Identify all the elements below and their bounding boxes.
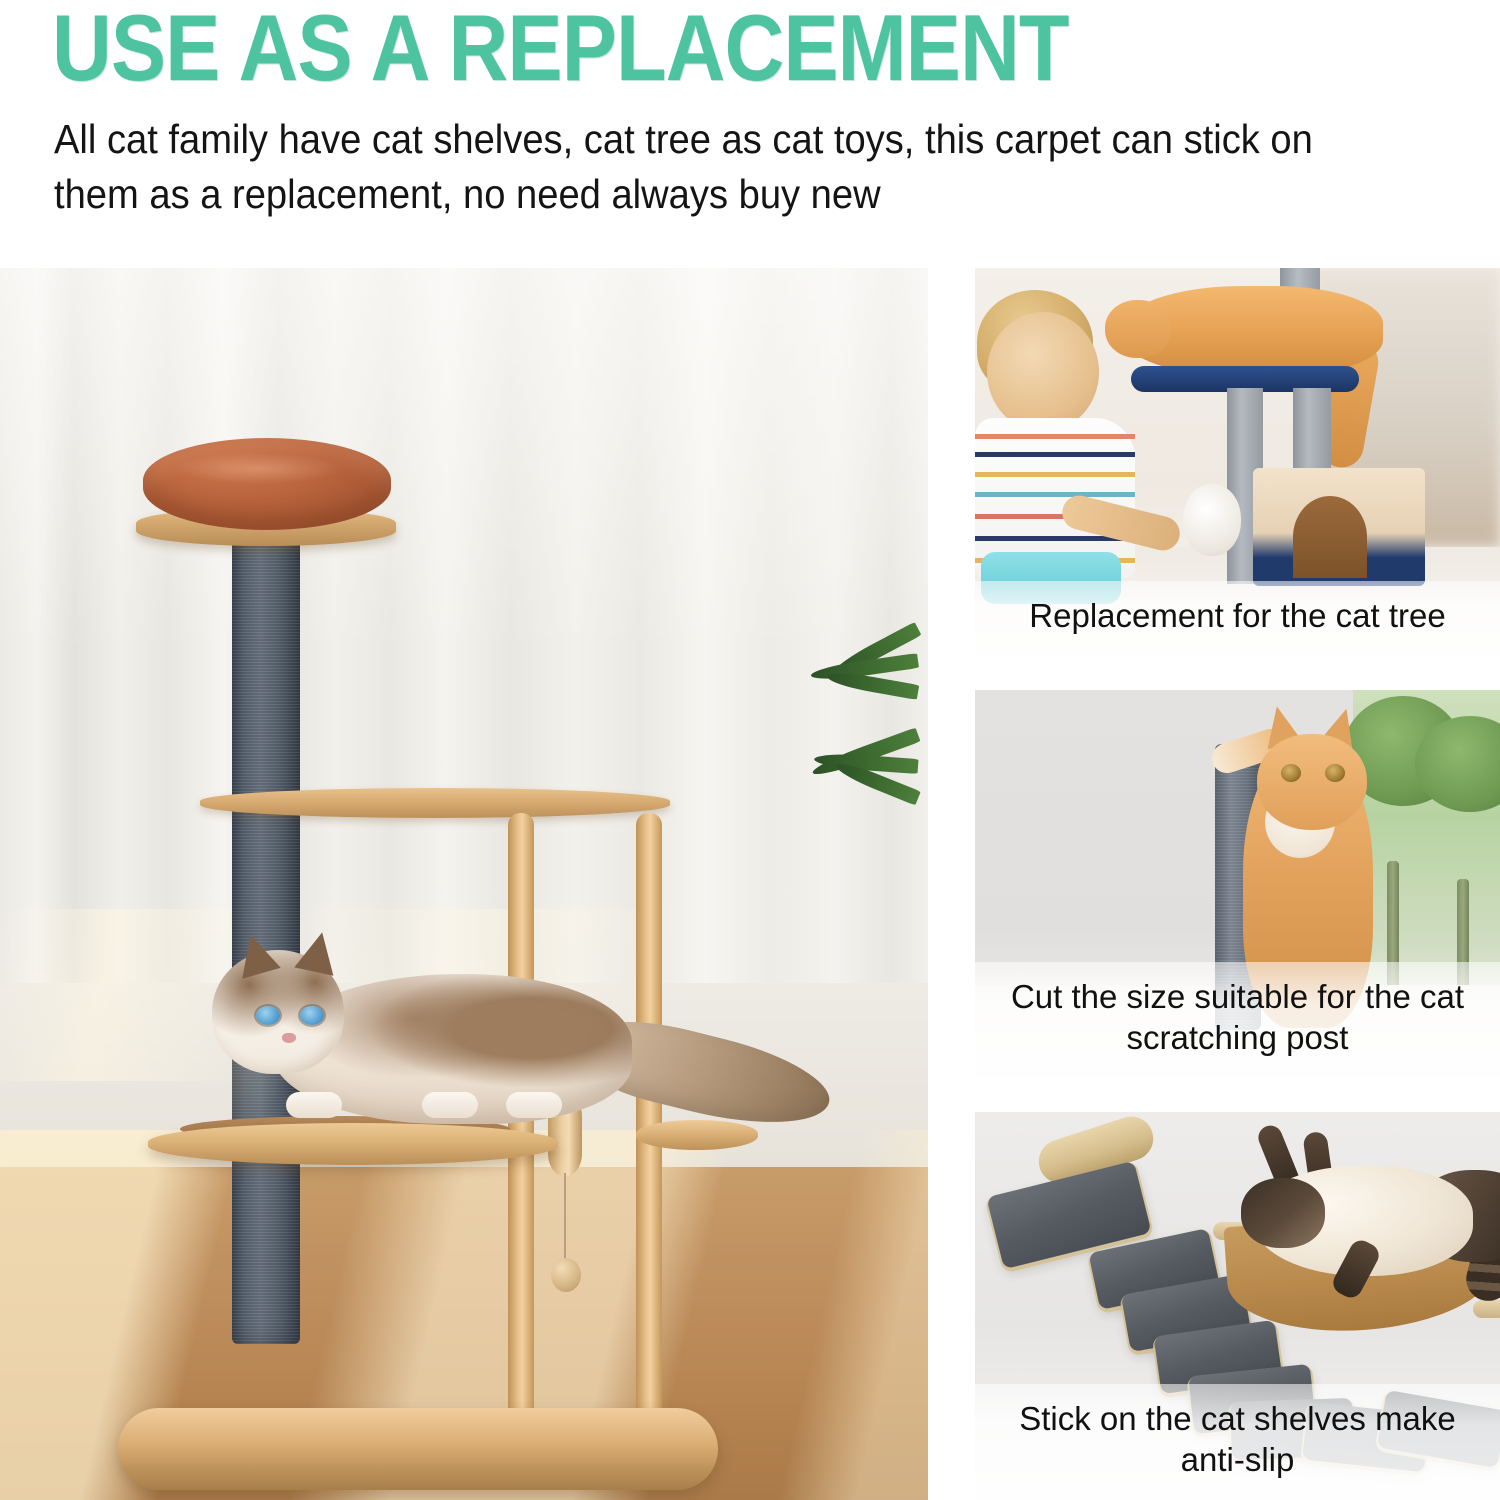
toy-string [564,1173,566,1261]
middle-platform [200,788,670,818]
cat-eye [300,1006,324,1025]
cat-head [212,950,344,1074]
header-band: USE AS A REPLACEMENT All cat family have… [0,0,1500,262]
main-product-photo [0,268,928,1500]
ragdoll-cat [186,940,706,1140]
page-subheading: All cat family have cat shelves, cat tre… [54,112,1356,223]
panel1-child-head [987,312,1099,432]
panel1-sisal-post-right [1293,388,1331,478]
panel1-white-cat [1183,484,1241,556]
house-plant [798,601,918,861]
panel3-siamese-cat-head [1241,1178,1325,1248]
cat-paw [506,1092,562,1118]
plush-cat-bed [143,438,391,530]
cat-paw [422,1092,478,1118]
infographic-page: USE AS A REPLACEMENT All cat family have… [0,0,1500,1500]
page-title: USE AS A REPLACEMENT [52,0,1068,102]
panel1-condo-entrance [1293,496,1367,578]
panel2-cat-head [1257,734,1367,830]
base-board [118,1408,718,1490]
cat-nose [282,1033,296,1043]
panel-replacement-cat-tree: Replacement for the cat tree [975,268,1500,656]
scratching-post [232,464,300,1344]
panel1-orange-cat-head [1105,300,1171,358]
cat-paw [286,1092,342,1118]
panel1-caption: Replacement for the cat tree [975,581,1500,656]
cat-ear [294,928,341,975]
cat-eye [256,1006,280,1025]
panel2-cat-eye [1325,764,1345,782]
panel2-caption: Cut the size suitable for the cat scratc… [975,962,1500,1079]
panel-anti-slip-shelves: Stick on the cat shelves make anti-slip [975,1112,1500,1500]
panel2-cat-eye [1281,764,1301,782]
panel3-caption: Stick on the cat shelves make anti-slip [975,1384,1500,1500]
toy-ball [551,1258,581,1292]
panel3-hammock-rod [1473,1300,1500,1318]
panel-cut-to-size: Cut the size suitable for the cat scratc… [975,690,1500,1078]
